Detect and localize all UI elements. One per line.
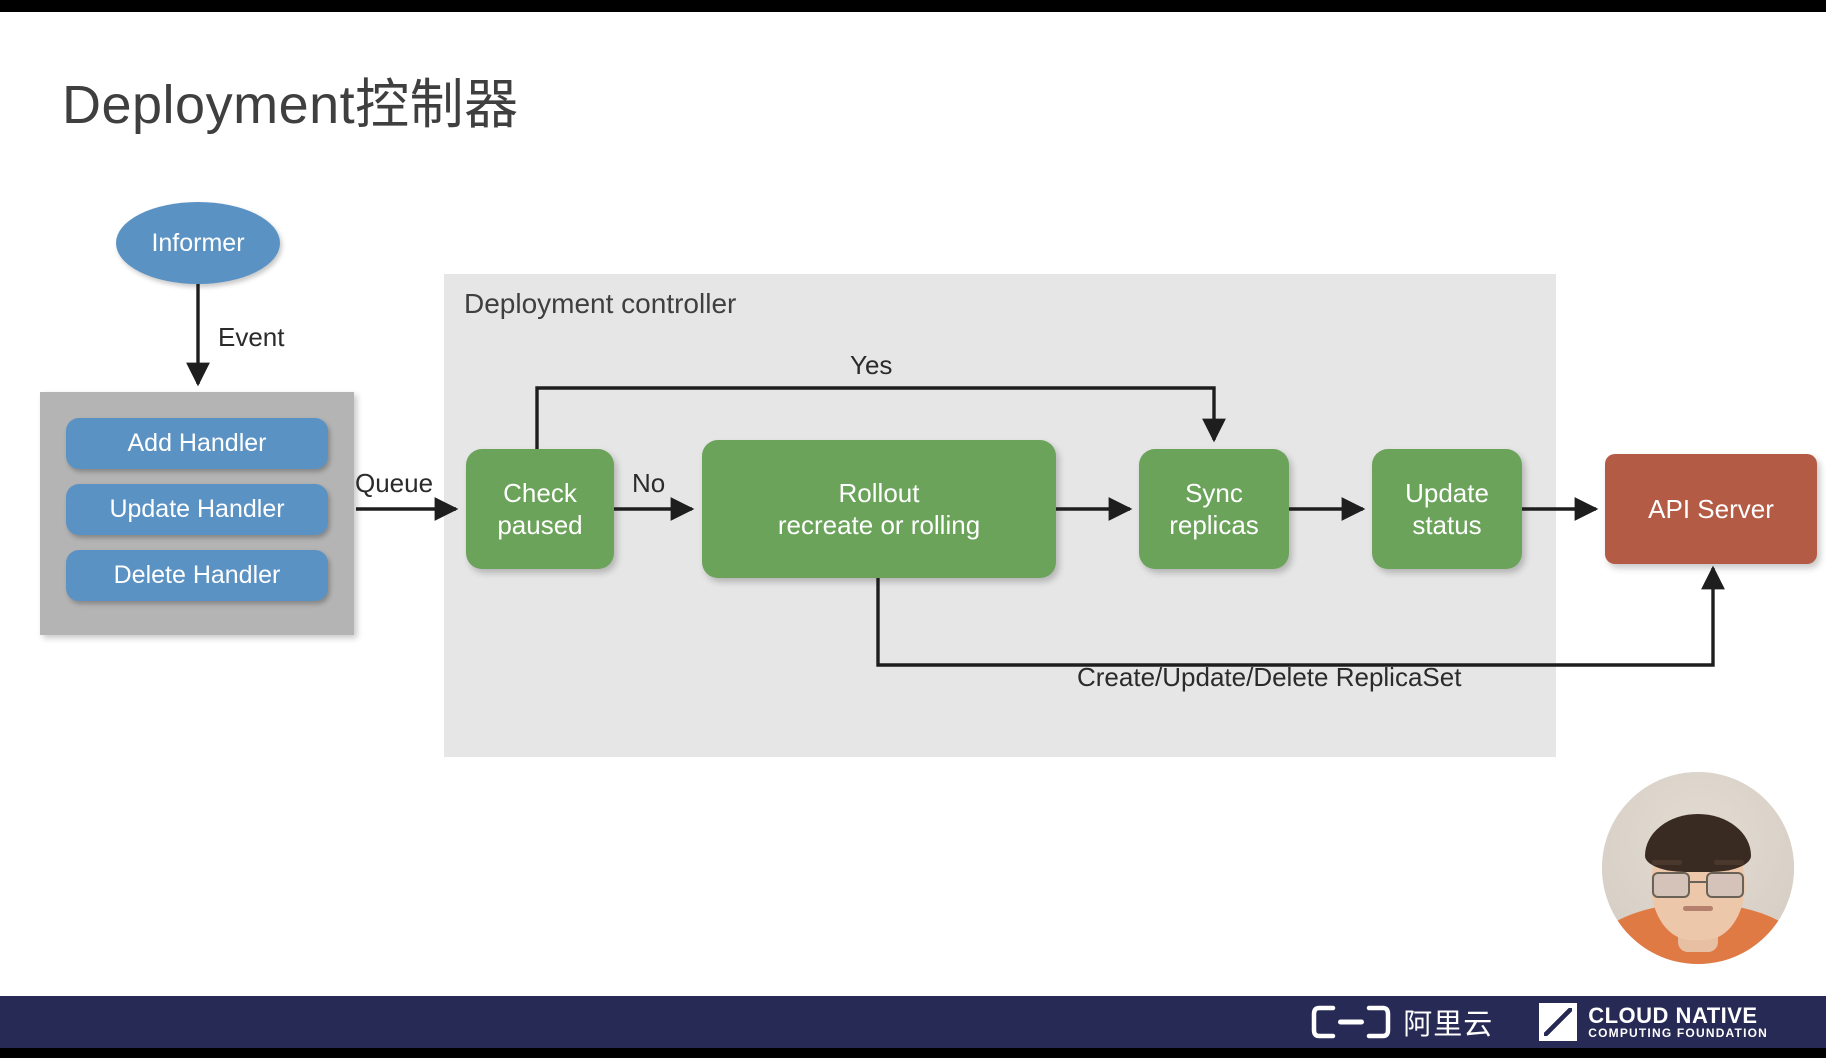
cncf-logo: CLOUD NATIVE COMPUTING FOUNDATION bbox=[1539, 1003, 1768, 1041]
add-handler-box: Add Handler bbox=[66, 418, 328, 469]
update-status-line2: status bbox=[1412, 509, 1481, 542]
update-status-box: Update status bbox=[1372, 449, 1522, 569]
edge-label-yes: Yes bbox=[850, 350, 892, 381]
glasses-lens-left bbox=[1652, 872, 1690, 898]
slide-canvas: Deployment控制器 Informer Add Handler Updat… bbox=[0, 12, 1826, 996]
cncf-line1: CLOUD NATIVE bbox=[1588, 1004, 1768, 1027]
alicloud-logo: 阿里云 bbox=[1311, 1001, 1493, 1043]
update-handler-label: Update Handler bbox=[109, 495, 284, 524]
alicloud-wordmark: 阿里云 bbox=[1403, 1001, 1493, 1043]
check-paused-line1: Check bbox=[503, 477, 577, 510]
informer-node: Informer bbox=[116, 202, 280, 284]
sync-replicas-line1: Sync bbox=[1185, 477, 1243, 510]
cncf-mark-icon bbox=[1539, 1003, 1577, 1041]
cncf-wordmark: CLOUD NATIVE COMPUTING FOUNDATION bbox=[1588, 1004, 1768, 1040]
add-handler-label: Add Handler bbox=[128, 429, 267, 458]
sync-replicas-box: Sync replicas bbox=[1139, 449, 1289, 569]
update-handler-box: Update Handler bbox=[66, 484, 328, 535]
sync-replicas-line2: replicas bbox=[1169, 509, 1259, 542]
rollout-line1: Rollout bbox=[839, 477, 920, 510]
api-server-label: API Server bbox=[1648, 494, 1774, 525]
check-paused-box: Check paused bbox=[466, 449, 614, 569]
update-status-line1: Update bbox=[1405, 477, 1489, 510]
check-paused-line2: paused bbox=[497, 509, 582, 542]
footer-bar: 阿里云 CLOUD NATIVE COMPUTING FOUNDATION bbox=[0, 996, 1826, 1048]
presenter-eyebrow-left bbox=[1652, 860, 1682, 865]
edge-label-replicaset: Create/Update/Delete ReplicaSet bbox=[1077, 662, 1461, 693]
page-title: Deployment控制器 bbox=[62, 60, 519, 139]
letterbox-bottom bbox=[0, 1048, 1826, 1058]
edge-label-queue: Queue bbox=[355, 468, 433, 499]
glasses-icon bbox=[1652, 872, 1744, 894]
letterbox-top bbox=[0, 0, 1826, 12]
glasses-bridge bbox=[1688, 881, 1708, 883]
informer-label: Informer bbox=[151, 229, 244, 258]
rollout-box: Rollout recreate or rolling bbox=[702, 440, 1056, 578]
presenter-webcam bbox=[1602, 772, 1794, 964]
slide-root: Deployment控制器 Informer Add Handler Updat… bbox=[0, 0, 1826, 1058]
presenter-eyebrow-right bbox=[1714, 860, 1744, 865]
deployment-controller-label: Deployment controller bbox=[464, 288, 736, 320]
handler-group: Add Handler Update Handler Delete Handle… bbox=[40, 392, 354, 635]
api-server-box: API Server bbox=[1605, 454, 1817, 564]
rollout-line2: recreate or rolling bbox=[778, 509, 980, 542]
presenter-mouth bbox=[1683, 906, 1713, 911]
delete-handler-label: Delete Handler bbox=[114, 561, 281, 590]
edge-label-no: No bbox=[632, 468, 665, 499]
delete-handler-box: Delete Handler bbox=[66, 550, 328, 601]
cncf-line2: COMPUTING FOUNDATION bbox=[1588, 1027, 1768, 1040]
edge-label-event: Event bbox=[218, 322, 285, 353]
alicloud-mark-icon bbox=[1311, 1004, 1395, 1040]
glasses-lens-right bbox=[1706, 872, 1744, 898]
